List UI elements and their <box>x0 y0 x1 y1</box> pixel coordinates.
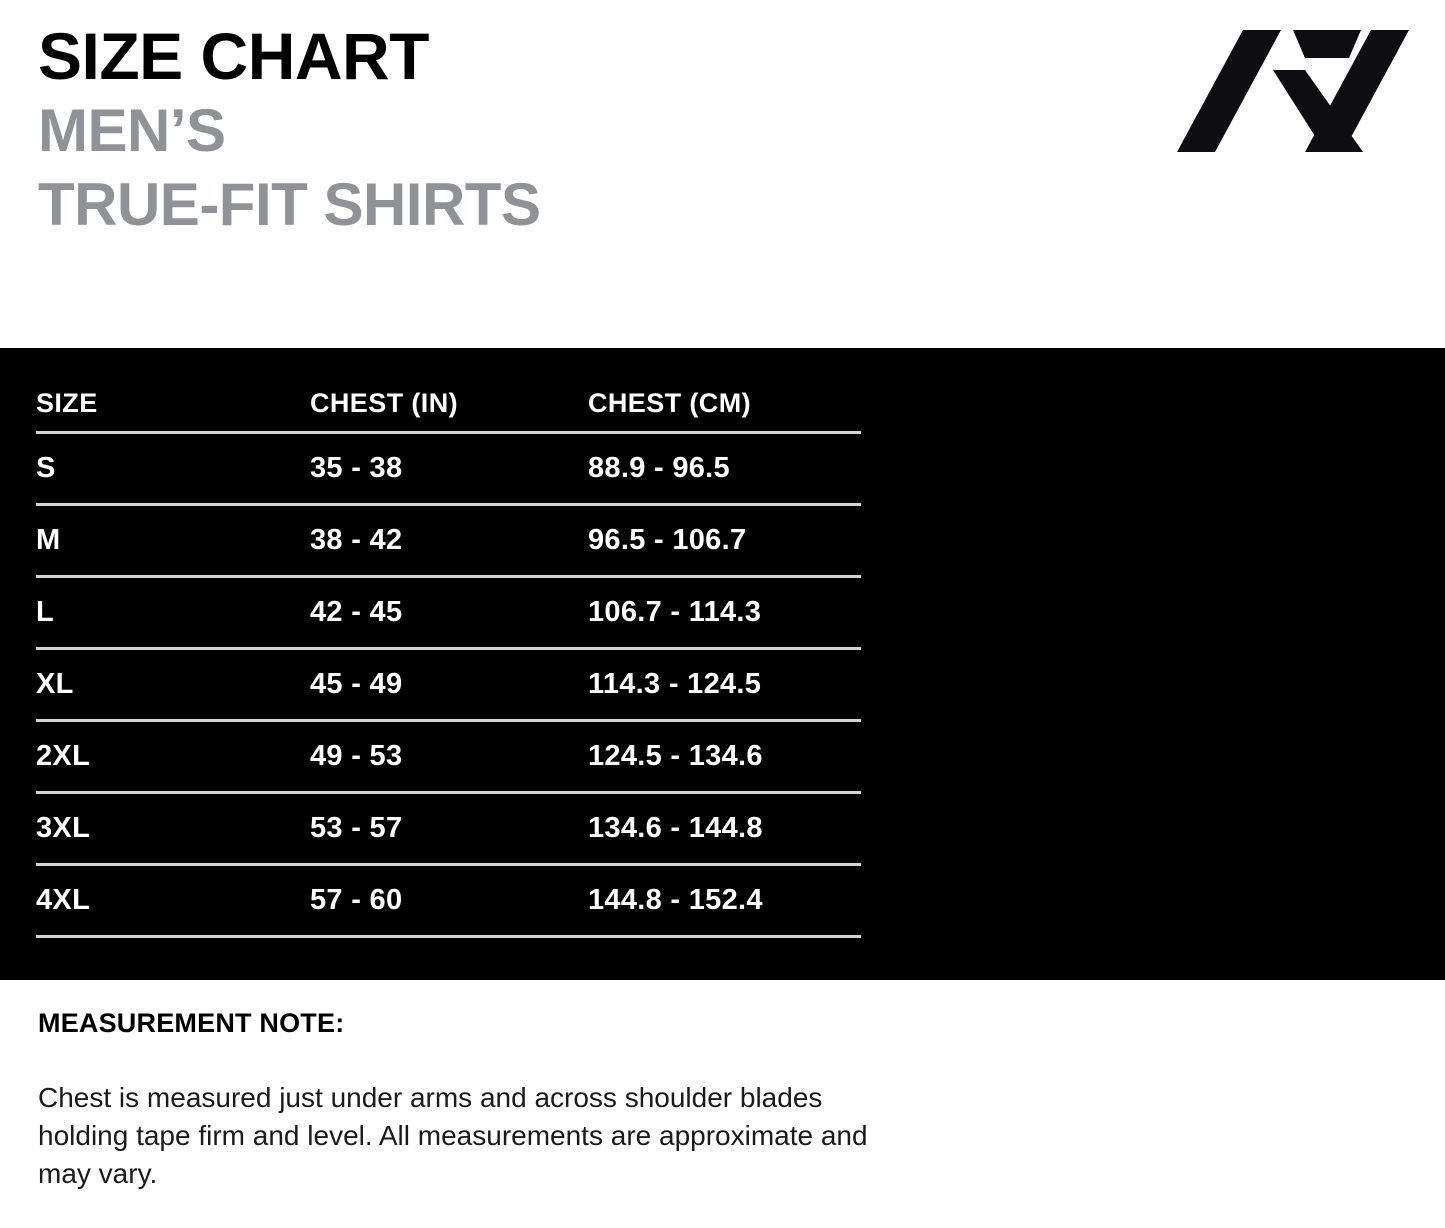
cell-chest-cm: 106.7 - 114.3 <box>588 596 861 629</box>
cell-chest-cm: 144.8 - 152.4 <box>588 884 861 917</box>
cell-size: 2XL <box>36 740 310 773</box>
cell-chest-in: 42 - 45 <box>310 596 588 629</box>
page-title: SIZE CHART <box>38 18 540 94</box>
measurement-note: MEASUREMENT NOTE: Chest is measured just… <box>38 1008 938 1193</box>
cell-size: 4XL <box>36 884 310 917</box>
cell-chest-in: 49 - 53 <box>310 740 588 773</box>
table-row: 4XL 57 - 60 144.8 - 152.4 <box>36 866 861 938</box>
column-header-size: SIZE <box>36 388 310 419</box>
page-header: SIZE CHART MEN’S TRUE-FIT SHIRTS <box>0 0 1445 348</box>
title-block: SIZE CHART MEN’S TRUE-FIT SHIRTS <box>38 18 540 242</box>
size-table-panel: SIZE CHEST (IN) CHEST (CM) S 35 - 38 88.… <box>0 348 1445 980</box>
cell-chest-cm: 134.6 - 144.8 <box>588 812 861 845</box>
cell-size: S <box>36 452 310 485</box>
cell-chest-in: 38 - 42 <box>310 524 588 557</box>
cell-chest-cm: 96.5 - 106.7 <box>588 524 861 557</box>
cell-chest-cm: 88.9 - 96.5 <box>588 452 861 485</box>
table-row: 2XL 49 - 53 124.5 - 134.6 <box>36 722 861 794</box>
cell-chest-in: 35 - 38 <box>310 452 588 485</box>
a7-logo-icon <box>1177 26 1409 156</box>
cell-size: XL <box>36 668 310 701</box>
size-table: SIZE CHEST (IN) CHEST (CM) S 35 - 38 88.… <box>36 348 861 938</box>
cell-chest-cm: 124.5 - 134.6 <box>588 740 861 773</box>
table-header-row: SIZE CHEST (IN) CHEST (CM) <box>36 348 861 434</box>
subtitle-line-1: MEN’S <box>38 94 540 168</box>
table-row: L 42 - 45 106.7 - 114.3 <box>36 578 861 650</box>
cell-chest-in: 45 - 49 <box>310 668 588 701</box>
cell-chest-in: 57 - 60 <box>310 884 588 917</box>
table-row: M 38 - 42 96.5 - 106.7 <box>36 506 861 578</box>
table-row: XL 45 - 49 114.3 - 124.5 <box>36 650 861 722</box>
column-header-chest-cm: CHEST (CM) <box>588 388 861 419</box>
subtitle-line-2: TRUE-FIT SHIRTS <box>38 168 540 242</box>
cell-chest-cm: 114.3 - 124.5 <box>588 668 861 701</box>
table-row: 3XL 53 - 57 134.6 - 144.8 <box>36 794 861 866</box>
column-header-chest-in: CHEST (IN) <box>310 388 588 419</box>
measurement-note-heading: MEASUREMENT NOTE: <box>38 1008 938 1039</box>
table-row: S 35 - 38 88.9 - 96.5 <box>36 434 861 506</box>
cell-size: M <box>36 524 310 557</box>
cell-size: 3XL <box>36 812 310 845</box>
cell-size: L <box>36 596 310 629</box>
cell-chest-in: 53 - 57 <box>310 812 588 845</box>
measurement-note-body: Chest is measured just under arms and ac… <box>38 1079 884 1193</box>
